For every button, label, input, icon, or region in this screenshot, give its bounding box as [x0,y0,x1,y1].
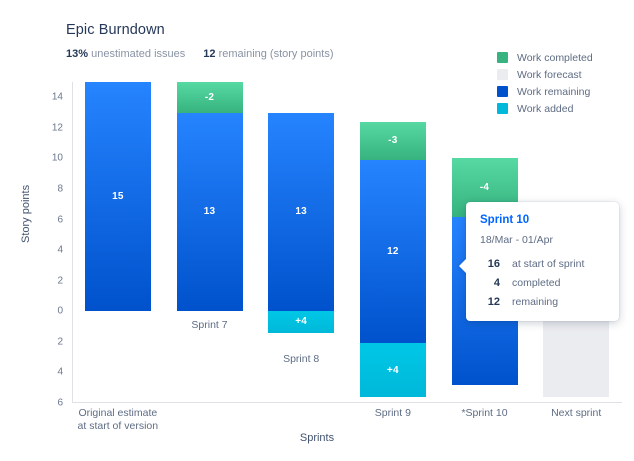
header-stats: 13% unestimated issues12 remaining (stor… [66,48,334,60]
bar-segment[interactable]: +4 [360,343,426,397]
bar-segment-value: 15 [112,191,124,202]
legend-swatch-icon [497,52,508,63]
bar-segment-value: -4 [480,182,489,193]
bar-segment[interactable]: 15 [85,82,151,311]
x-axis-category-label: Sprint 9 [348,407,438,420]
bar-segment[interactable]: -2 [177,82,243,113]
bar-segment[interactable] [543,311,609,397]
y-axis-tick-label: 10 [52,153,63,164]
bar-segment[interactable]: 12 [360,160,426,343]
bar-segment-value: +4 [387,365,399,376]
sprint-tooltip: Sprint 10 18/Mar - 01/Apr 16at start of … [466,202,619,321]
bar-segment-value: -2 [205,92,214,103]
tooltip-title: Sprint 10 [480,214,605,226]
y-axis-tick-label: 4 [57,245,63,256]
remaining-label: remaining (story points) [219,48,334,60]
y-axis-title: Story points [20,185,32,243]
bar-segment[interactable]: -3 [360,122,426,160]
bar-segment-value: 13 [204,206,216,217]
bar-segment-value: 13 [295,206,307,217]
x-axis-line [72,402,622,403]
y-axis-tick-label: 6 [57,398,63,409]
y-axis-tick-label: 12 [52,122,63,133]
bar-column[interactable]: -213 [177,82,243,403]
tooltip-row-label: remaining [512,296,558,308]
x-axis-category-label: Sprint 8 [256,353,346,366]
remaining-points: 12 [203,48,215,60]
tooltip-row-value: 4 [480,277,500,289]
legend-item-label: Work forecast [517,69,582,81]
bar-segment[interactable]: 13 [268,113,334,312]
legend-item[interactable]: Work completed [497,50,633,65]
legend-swatch-icon [497,69,508,80]
y-axis-tick-label: 0 [57,306,63,317]
unestimated-percent: 13% [66,48,88,60]
y-axis-tick-label: 14 [52,92,63,103]
tooltip-rows: 16at start of sprint4completed12remainin… [480,258,605,308]
bar-column[interactable]: 15 [85,82,151,403]
legend-item-label: Work completed [517,52,593,64]
y-axis-tick-label: 2 [57,336,63,347]
legend-item[interactable]: Work forecast [497,67,633,82]
bar-segment-value: -3 [388,135,397,146]
tooltip-row-value: 12 [480,296,500,308]
unestimated-label: unestimated issues [91,48,185,60]
x-axis-category-label: Sprint 7 [165,319,255,332]
y-axis-line [72,82,73,403]
bar-segment[interactable]: 13 [177,113,243,312]
tooltip-row: 12remaining [480,296,605,308]
x-axis-title: Sprints [0,432,634,444]
bar-segment-value: 12 [387,246,399,257]
x-axis-category-label: *Sprint 10 [440,407,530,420]
y-axis-tick-label: 8 [57,184,63,195]
tooltip-row-label: at start of sprint [512,258,584,270]
bar-segment-value: +4 [295,316,307,327]
x-axis-category-label: Original estimate at start of version [73,407,163,433]
bar-column[interactable]: -312+4 [360,82,426,403]
tooltip-row: 16at start of sprint [480,258,605,270]
y-axis-tick-label: 4 [57,367,63,378]
bar-segment[interactable]: +4 [268,311,334,332]
tooltip-dates: 18/Mar - 01/Apr [480,234,605,246]
epic-burndown-chart: Epic Burndown 13% unestimated issues12 r… [0,0,634,461]
page-title: Epic Burndown [66,22,165,38]
y-axis-tick-label: 6 [57,214,63,225]
tooltip-row: 4completed [480,277,605,289]
tooltip-row-value: 16 [480,258,500,270]
y-axis-tick-label: 2 [57,275,63,286]
tooltip-row-label: completed [512,277,560,289]
x-axis-category-label: Next sprint [531,407,621,420]
